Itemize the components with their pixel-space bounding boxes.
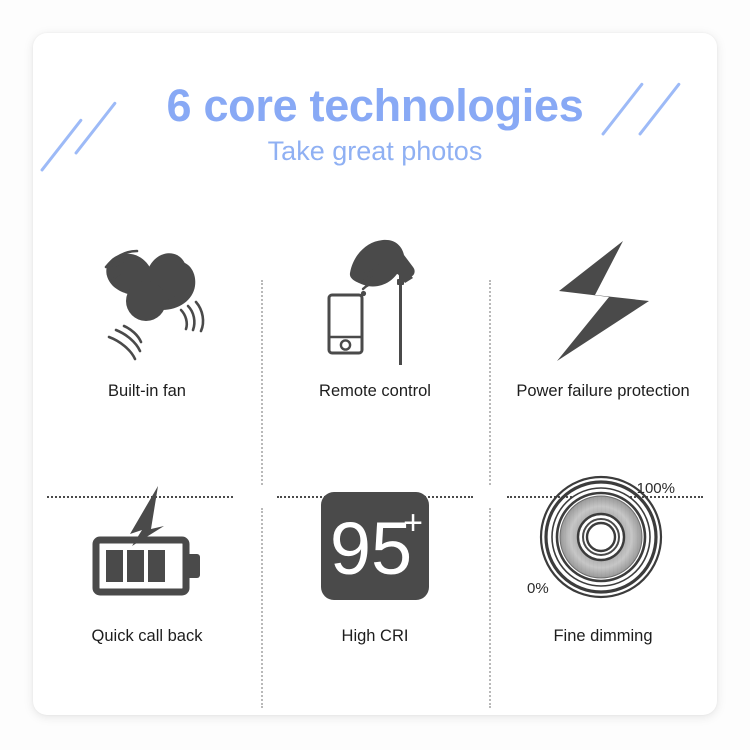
dimming-dial-icon: 100% 0% — [489, 463, 717, 628]
dial-max-label: 100% — [637, 480, 675, 497]
feature-label: Remote control — [319, 383, 431, 400]
cri-value: 95 — [330, 507, 412, 590]
feature-item-remote-control: Remote control — [261, 218, 489, 443]
feature-label: Power failure protection — [516, 383, 689, 400]
page-title: 6 core technologies — [33, 80, 717, 132]
cri-badge-icon: 95 + — [261, 463, 489, 628]
remote-control-icon — [261, 218, 489, 383]
battery-bolt-icon — [33, 463, 261, 628]
feature-label: Built-in fan — [108, 383, 186, 400]
page-root: 6 core technologies Take great photos — [0, 0, 750, 750]
fan-icon — [33, 218, 261, 383]
feature-card: 6 core technologies Take great photos — [33, 33, 717, 715]
feature-label: Fine dimming — [553, 628, 652, 645]
card-header: 6 core technologies Take great photos — [33, 33, 717, 208]
dial-min-label: 0% — [527, 580, 549, 597]
feature-item-power-failure-protection: Power failure protection — [489, 218, 717, 443]
feature-item-quick-call-back: Quick call back — [33, 463, 261, 688]
feature-grid: Built-in fan — [33, 218, 717, 688]
feature-label: High CRI — [342, 628, 409, 645]
lightning-bolt-icon — [489, 218, 717, 383]
cri-suffix: + — [403, 504, 423, 542]
feature-item-built-in-fan: Built-in fan — [33, 218, 261, 443]
page-subtitle: Take great photos — [33, 136, 717, 167]
feature-label: Quick call back — [92, 628, 203, 645]
feature-item-high-cri: 95 + High CRI — [261, 463, 489, 688]
feature-item-fine-dimming: 100% 0% Fine dimming — [489, 463, 717, 688]
